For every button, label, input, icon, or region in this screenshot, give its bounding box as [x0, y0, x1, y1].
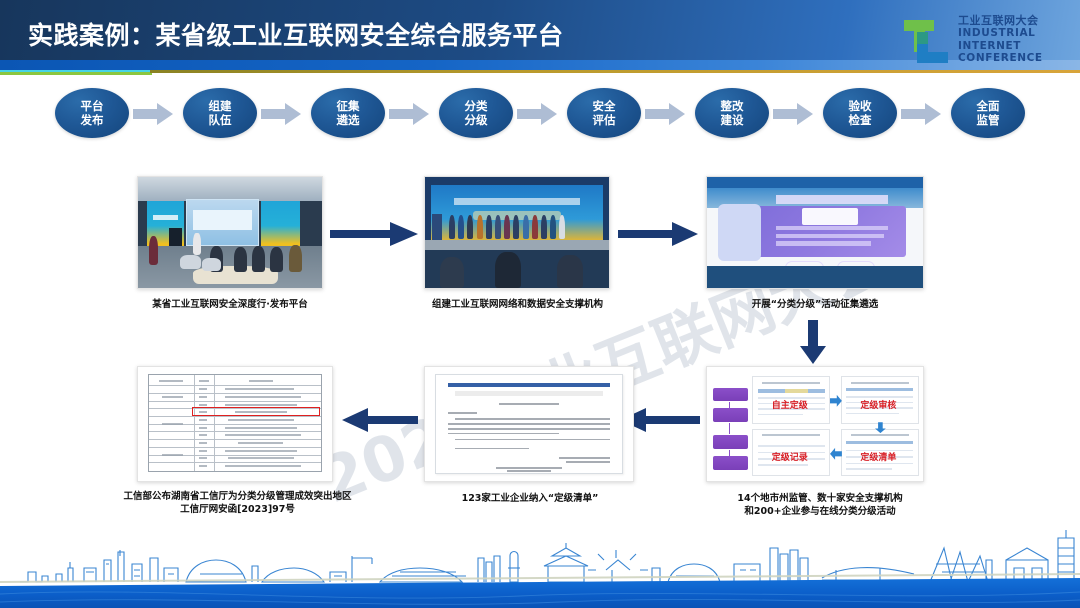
screenshot-grading-platform-caption: 14个地市州监管、数十家安全支撑机构 和200+企业参与在线分类分级活动 [700, 492, 940, 518]
composite-pill-2[interactable] [713, 408, 748, 422]
table-cell-r11 [225, 465, 301, 467]
composite-pill-connector-2 [729, 423, 731, 434]
composite-q4-header [846, 441, 913, 444]
photo-stage-ceremony-caption: 组建工业互联网网络和数据安全支撑机构 [410, 298, 625, 311]
photo1-person-standing [149, 236, 158, 265]
photo1-audience-4 [270, 247, 283, 273]
flow-step-3-line1: 征集 [337, 99, 360, 113]
flow-step-6[interactable]: 整改 建设 [695, 88, 769, 138]
footer-skyline-lines [20, 530, 1074, 582]
table-head-cell-2 [199, 380, 209, 382]
screenshot-selection-website-caption: 开展“分类分级”活动征集遴选 [700, 298, 930, 311]
table-region-5 [199, 419, 208, 421]
photo2-person-8 [513, 215, 519, 239]
notice-body-2 [448, 423, 611, 425]
photo2-person-5 [486, 215, 492, 239]
composite-q2-row-4 [846, 413, 899, 415]
screenshot-selection-website [706, 176, 924, 289]
photo3-panel-heading [802, 208, 858, 225]
photo2-person-9 [523, 215, 529, 239]
page-title: 实践案例：某省级工业互联网安全综合服务平台 [28, 16, 564, 52]
composite-label-3: 定级记录 [772, 450, 808, 463]
table-grid [148, 374, 323, 472]
flow-arrow-3-icon [389, 103, 429, 125]
photo1-person-presenter [193, 233, 200, 255]
table-region-6 [199, 427, 208, 429]
table-region-7 [199, 434, 208, 436]
table-region-10 [199, 457, 208, 459]
table-group-label-1 [162, 396, 183, 398]
composite-q1-highlight [785, 389, 808, 393]
flow-arrow-2-icon [261, 103, 301, 125]
photo-conference-hall-caption: 某省工业互联网安全深度行·发布平台 [120, 298, 340, 311]
notice-body-3 [448, 428, 611, 430]
table-cell-r6 [225, 427, 297, 429]
doc1-caption-line2: 工信厅网安函[2023]97号 [100, 503, 375, 516]
flow-step-6-line1: 整改 [721, 99, 744, 113]
table-region-11 [199, 465, 208, 467]
flow-arrow-1-icon [133, 103, 173, 125]
header-accent-bar-green [0, 72, 152, 75]
logo-title-cn: 工业互联网大会 [958, 14, 1043, 27]
photo2-person-1 [449, 215, 455, 239]
composite-q1-title [762, 382, 820, 384]
photo2-person-13 [559, 215, 565, 239]
composite-pill-3[interactable] [713, 435, 748, 449]
photo3-illustration [718, 204, 761, 262]
composite-q2-title [851, 382, 909, 384]
composite-label-2: 定级审核 [860, 398, 896, 411]
conference-logo: 工业互联网大会 INDUSTRIAL INTERNET CONFERENCE [900, 14, 1060, 72]
flow-arrow-6-icon [773, 103, 813, 125]
table-region-1 [199, 388, 208, 390]
composite-q3-title [762, 434, 820, 436]
photo3-panel-line-3 [776, 241, 871, 245]
table-cell-r10 [228, 457, 294, 459]
photo1-audience-2 [234, 247, 247, 273]
flow-step-1-line1: 平台 [81, 99, 104, 113]
photo1-screen-right [261, 201, 300, 245]
flow-step-7[interactable]: 验收 检查 [823, 88, 897, 138]
table-cell-r8 [238, 442, 283, 444]
composite-arrow-down-icon [875, 422, 886, 433]
photo3-panel-title [776, 195, 888, 204]
flow-step-3-line2: 遴选 [337, 113, 360, 127]
table-cell-r1 [225, 388, 294, 390]
flow-arrow-4-icon [517, 103, 557, 125]
notice-body-5 [455, 439, 611, 441]
table-highlight-box [192, 407, 320, 416]
document-miit-region-table-caption: 工信部公布湖南省工信厅为分类分级管理成效突出地区 工信厅网安函[2023]97号 [100, 490, 375, 516]
composite-q2-header [846, 388, 913, 391]
composite-arrow-right-icon [830, 394, 842, 408]
flow-step-5[interactable]: 安全 评估 [567, 88, 641, 138]
flow-step-2-line2: 队伍 [209, 113, 232, 127]
table-cell-r7 [225, 434, 301, 436]
table-row-divider-2 [149, 393, 322, 394]
photo2-person-6 [495, 215, 501, 239]
composite-q4-row-4 [846, 468, 891, 470]
flow-step-1[interactable]: 平台 发布 [55, 88, 129, 138]
document-provincial-notice-caption: 123家工业企业纳入“定级清单” [430, 492, 630, 505]
photo2-person-12 [550, 215, 556, 239]
notice-doc-number [499, 403, 558, 405]
composite-label-1: 自主定级 [772, 398, 808, 411]
notice-signature-2 [566, 461, 610, 463]
photo2-seated-3 [557, 255, 583, 288]
table-row-divider-1 [149, 385, 322, 386]
notice-page [435, 374, 622, 474]
document-miit-region-table [137, 366, 333, 482]
slide-canvas: 实践案例：某省级工业互联网安全综合服务平台 工业互联网大会 INDUSTRIAL… [0, 0, 1080, 608]
flow-step-3[interactable]: 征集 遴选 [311, 88, 385, 138]
notice-seal-line-2 [507, 470, 551, 472]
doc3-caption-line1: 14个地市州监管、数十家安全支撑机构 [700, 492, 940, 505]
table-cell-r9 [225, 450, 297, 452]
photo2-seated-1 [440, 257, 464, 288]
composite-pill-connector-3 [729, 450, 731, 456]
photo1-screen-text [153, 215, 179, 221]
photo2-person-11 [541, 215, 547, 239]
photo2-person-4 [477, 215, 483, 239]
flow-step-7-line1: 验收 [849, 99, 872, 113]
document-provincial-notice [424, 366, 634, 482]
flow-arrow-5-icon [645, 103, 685, 125]
photo-stage-ceremony [424, 176, 610, 289]
flow-step-8-line1: 全面 [977, 99, 1000, 113]
photo3-panel-line-2 [776, 234, 884, 238]
table-row-divider-7 [149, 431, 322, 432]
flow-step-8[interactable]: 全面 监管 [951, 88, 1025, 138]
photo1-audience-3 [252, 246, 265, 273]
photo1-audience-5 [289, 245, 302, 273]
photo2-person-7 [504, 215, 510, 239]
photo1-sofa-1 [180, 255, 200, 269]
table-row-divider-3 [149, 401, 322, 402]
composite-pill-4[interactable] [713, 456, 748, 470]
process-flow: 平台 发布 组建 队伍 征集 遴选 分类 分级 安全 评估 [0, 88, 1080, 150]
table-cell-r3 [225, 404, 297, 406]
composite-q3-row-1 [758, 445, 825, 447]
flow-step-6-line2: 建设 [721, 113, 744, 127]
photo1-screen-center-slide [193, 210, 252, 230]
notice-signature-1 [559, 457, 611, 459]
notice-attachment [455, 448, 529, 450]
notice-headline [448, 383, 611, 387]
flow-step-5-line2: 评估 [593, 113, 616, 127]
composite-arrow-left-icon [830, 447, 842, 461]
flow-step-1-line2: 发布 [81, 113, 104, 127]
flow-step-2-line1: 组建 [209, 99, 232, 113]
logo-title-en-2: INTERNET [958, 40, 1043, 53]
flow-arrow-7-icon [901, 103, 941, 125]
table-head-cell-3 [249, 380, 273, 382]
doc1-caption-line1: 工信部公布湖南省工信厅为分类分级管理成效突出地区 [100, 490, 375, 503]
table-group-label-3 [162, 454, 183, 456]
connector-arrow-4-icon [342, 408, 418, 432]
composite-q4-title [851, 434, 909, 436]
photo-conference-hall [137, 176, 323, 289]
flow-step-4-line1: 分类 [465, 99, 488, 113]
photo2-seated-2 [495, 252, 521, 288]
composite-label-4: 定级清单 [860, 450, 896, 463]
flow-step-4[interactable]: 分类 分级 [439, 88, 513, 138]
table-region-8 [199, 442, 208, 444]
photo1-sofa-2 [202, 258, 220, 271]
photo2-person-3 [467, 215, 473, 239]
table-cell-r5 [228, 419, 294, 421]
photo3-panel-line-1 [776, 226, 888, 230]
table-row-divider-8 [149, 439, 322, 440]
table-row-divider-9 [149, 447, 322, 448]
flow-step-5-line1: 安全 [593, 99, 616, 113]
table-cell-r2 [225, 396, 301, 398]
composite-pill-connector-1 [729, 402, 731, 408]
table-head-cell-1 [159, 380, 183, 382]
flow-step-7-line2: 检查 [849, 113, 872, 127]
photo2-podium [432, 214, 441, 241]
table-row-divider-5 [149, 416, 322, 417]
table-region-9 [199, 450, 208, 452]
composite-pill-1[interactable] [713, 388, 748, 402]
logo-title-en-1: INDUSTRIAL [958, 27, 1043, 40]
table-row-divider-11 [149, 462, 322, 463]
logo-mark-icon [900, 16, 952, 68]
table-group-label-2 [162, 423, 183, 425]
photo2-person-2 [458, 215, 464, 239]
flow-step-2[interactable]: 组建 队伍 [183, 88, 257, 138]
logo-title-en-3: CONFERENCE [958, 52, 1043, 65]
connector-arrow-2-icon [618, 222, 698, 246]
composite-q1-row-4 [758, 414, 803, 416]
composite-q3-row-4 [758, 464, 808, 466]
table-region-3 [199, 404, 208, 406]
photo2-person-10 [532, 215, 538, 239]
footer-skyline [0, 516, 1080, 608]
logo-text: 工业互联网大会 INDUSTRIAL INTERNET CONFERENCE [958, 14, 1043, 65]
photo1-podium [169, 228, 182, 246]
notice-salutation [448, 412, 478, 414]
notice-body-1 [455, 418, 611, 420]
notice-seal-line-1 [496, 467, 563, 469]
connector-arrow-1-icon [330, 222, 418, 246]
screenshot-grading-platform-composite: 自主定级 定级审核 定级记录 定级清单 [706, 366, 924, 482]
photo3-navbar [707, 177, 923, 188]
connector-arrow-down-icon [800, 320, 826, 364]
flow-step-4-line2: 分级 [465, 113, 488, 127]
photo3-footer [707, 266, 923, 288]
table-region-2 [199, 396, 208, 398]
photo1-ceiling [138, 177, 322, 201]
notice-meta-bar [455, 391, 603, 397]
flow-step-8-line2: 监管 [977, 113, 1000, 127]
notice-body-4 [448, 433, 559, 435]
photo2-screen-headline [454, 198, 579, 205]
